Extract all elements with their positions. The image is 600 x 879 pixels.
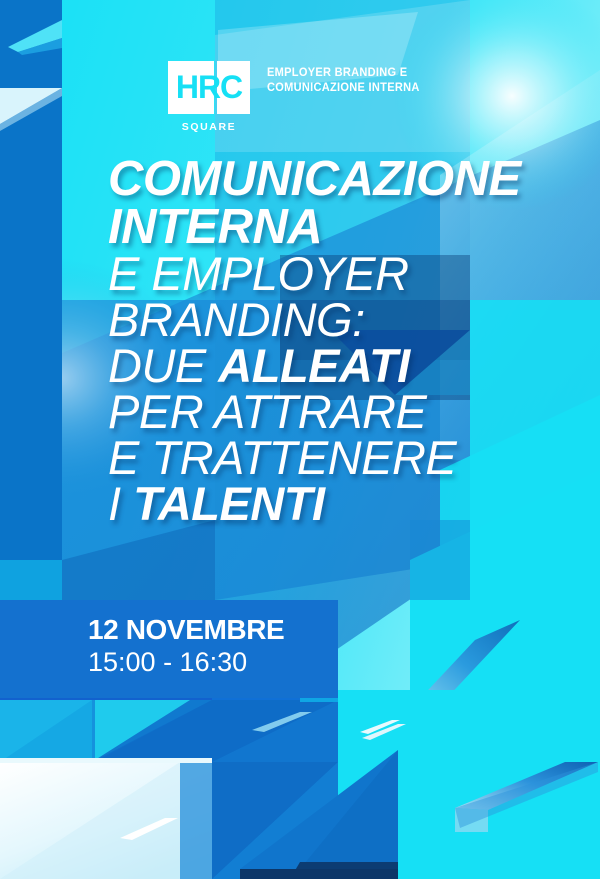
brand-tagline: EMPLOYER BRANDING E COMUNICAZIONE INTERN… xyxy=(267,66,420,95)
hrc-logo-mark: HRC xyxy=(168,61,250,114)
logo-subtitle: SQUARE xyxy=(168,121,250,133)
headline-line-5: DUE ALLEATI xyxy=(108,343,578,389)
headline-line-3: E EMPLOYER xyxy=(108,251,578,297)
brand-lockup: HRC SQUARE EMPLOYER BRANDING E COMUNICAZ… xyxy=(168,61,426,133)
headline-line-6: PER ATTRARE xyxy=(108,389,578,435)
event-date-block: 12 NOVEMBRE 15:00 - 16:30 xyxy=(88,615,284,679)
poster-content: HRC SQUARE EMPLOYER BRANDING E COMUNICAZ… xyxy=(0,0,600,879)
headline-line-5-regular: DUE xyxy=(108,339,218,392)
event-time: 15:00 - 16:30 xyxy=(88,647,284,679)
event-date: 12 NOVEMBRE xyxy=(88,615,284,646)
headline-line-5-bold: ALLEATI xyxy=(218,339,409,392)
event-date-band: 12 NOVEMBRE 15:00 - 16:30 xyxy=(0,600,338,698)
logo-panel-left xyxy=(168,61,214,114)
headline-line-7: E TRATTENERE xyxy=(108,435,578,481)
headline-line-8-bold: TALENTI xyxy=(133,477,324,530)
event-poster: HRC SQUARE EMPLOYER BRANDING E COMUNICAZ… xyxy=(0,0,600,879)
headline-line-2: INTERNA xyxy=(108,203,578,251)
page-title: COMUNICAZIONE INTERNA E EMPLOYER BRANDIN… xyxy=(108,155,578,527)
logo-panel-right xyxy=(217,61,250,114)
headline-line-8: I TALENTI xyxy=(108,481,578,527)
headline-line-1: COMUNICAZIONE xyxy=(108,155,578,203)
hrc-square-logo: HRC SQUARE xyxy=(168,61,250,133)
headline-line-4: BRANDING: xyxy=(108,297,578,343)
headline-line-8-regular: I xyxy=(108,477,133,530)
